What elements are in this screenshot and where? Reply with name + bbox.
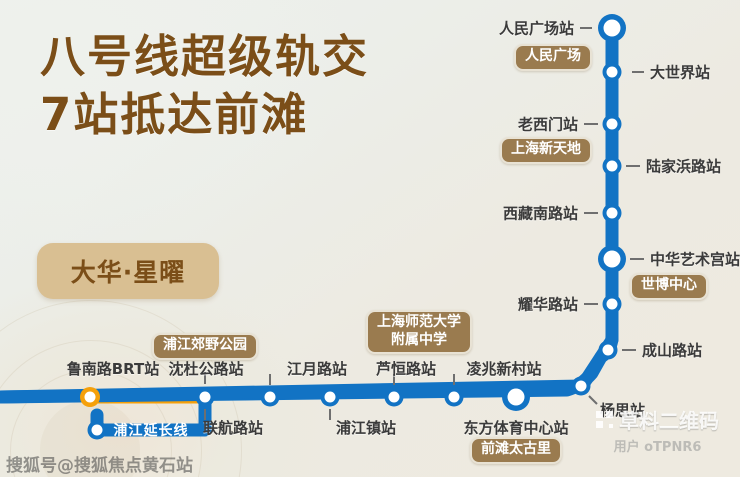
station-dot-renmin-guangchang [598, 14, 626, 42]
station-dot-chengshan-lu [599, 341, 618, 360]
station-label-lujiabang-lu: 陆家浜路站 [646, 156, 721, 177]
poster-root: 八号线超级轨交 7站抵达前滩 大华·星曜 [0, 0, 740, 477]
badge-shida-fuzhong: 上海师范大学 附属中学 [366, 310, 472, 354]
station-label-luheng-lu: 芦恒路站 [376, 358, 436, 379]
station-dot-lujiabang-lu [603, 157, 622, 176]
station-dot-dongfang-tiyu-zhongxin [502, 383, 530, 411]
watermark-main-row: 草料二维码 [596, 405, 719, 434]
watermark-bottom-left: 搜狐号@搜狐焦点黄石站 [6, 451, 193, 476]
station-dot-lingzhao-xincun [445, 388, 464, 407]
station-label-dongfang-tiyu-zhongxin: 东方体育中心站 [463, 417, 568, 438]
station-dot-lunan-lu-brt [80, 387, 100, 407]
station-label-lingzhao-xincun: 凌兆新村站 [466, 358, 541, 379]
station-dot-luheng-lu [385, 388, 404, 407]
badge-pujiang-jiaoye-gongyuan: 浦江郊野公园 [152, 333, 258, 360]
station-label-chengshan-lu: 成山路站 [642, 340, 702, 361]
station-label-xizang-nanlu: 西藏南路站 [503, 203, 578, 224]
station-label-yaohua-lu: 耀华路站 [518, 294, 578, 315]
station-dot-xizang-nanlu [603, 204, 622, 223]
station-label-laoximen: 老西门站 [518, 114, 578, 135]
station-label-lunan-lu-brt: 鲁南路BRT站 [67, 358, 160, 379]
station-dot-pujiang-zhen [321, 388, 340, 407]
station-label-jiangyue-lu: 江月路站 [287, 358, 347, 379]
watermark-sub-text: 用户 oTPNR6 [596, 436, 719, 455]
branch-line-label: 浦江延长线 [114, 420, 189, 440]
station-dot-dashijie [603, 63, 622, 82]
station-dot-zhonghua-yishugong [598, 245, 626, 273]
station-label-renmin-guangchang: 人民广场站 [499, 18, 574, 39]
station-dot-laoximen [603, 115, 622, 134]
badge-shibo-zhongxin: 世博中心 [630, 273, 708, 300]
watermark-bottom-right: 草料二维码 用户 oTPNR6 [596, 405, 719, 455]
station-dot-yangsi [572, 377, 591, 396]
station-label-lianhang-lu: 联航路站 [203, 417, 263, 438]
qr-code-icon [596, 411, 613, 428]
badge-shida-fuzhong-line-2: 附属中学 [377, 332, 461, 350]
station-dot-yaohua-lu [603, 295, 622, 314]
badge-qiantan-taikooli: 前滩太古里 [470, 437, 562, 464]
station-dot-shendu-gonglu [196, 388, 215, 407]
badge-shida-fuzhong-line-1: 上海师范大学 [377, 314, 461, 332]
station-label-shendu-gonglu: 沈杜公路站 [168, 358, 243, 379]
station-label-pujiang-zhen: 浦江镇站 [336, 417, 396, 438]
badge-renmin-guangchang: 人民广场 [514, 44, 592, 71]
station-dot-jiangyue-lu [261, 388, 280, 407]
watermark-main-text: 草料二维码 [619, 405, 719, 434]
badge-shanghai-xintiandi: 上海新天地 [500, 137, 592, 164]
station-dot-branch-terminus [88, 421, 107, 440]
station-label-dashijie: 大世界站 [650, 62, 710, 83]
station-label-zhonghua-yishugong: 中华艺术宫站 [650, 249, 740, 270]
